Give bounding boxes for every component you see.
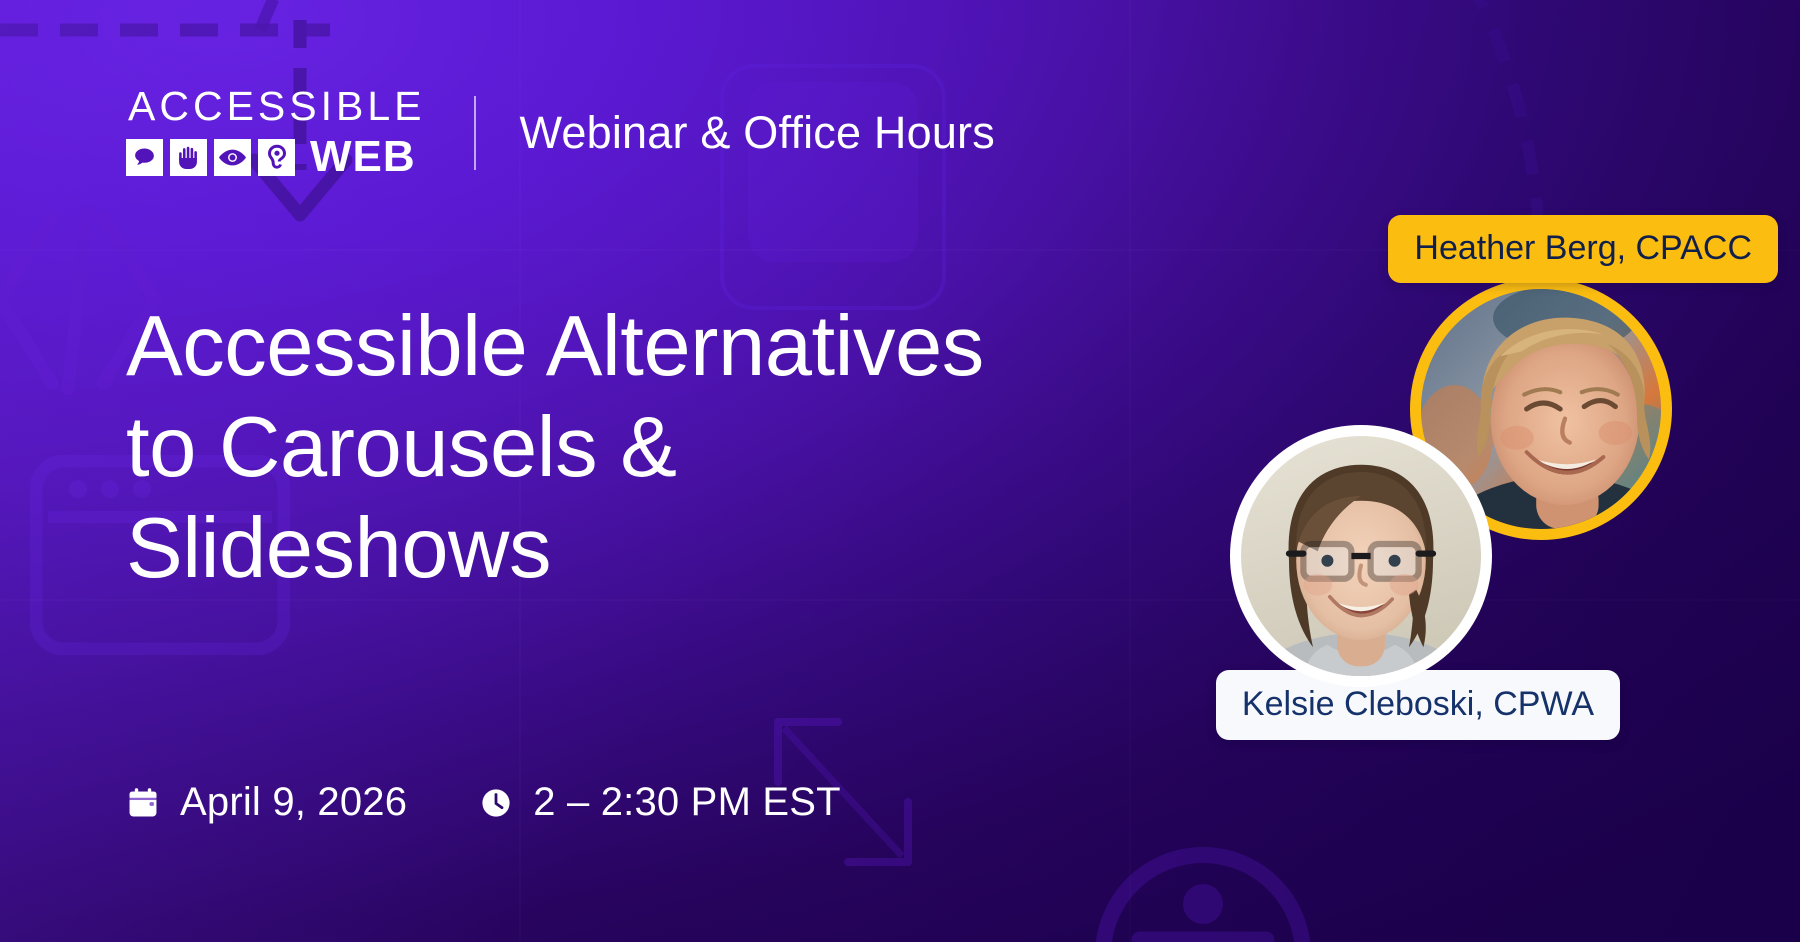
speaker-group: Heather Berg, CPACC (1150, 0, 1800, 800)
event-time: 2 – 2:30 PM EST (479, 780, 841, 825)
event-date: April 9, 2026 (126, 780, 407, 825)
speaker-name-badge-heather: Heather Berg, CPACC (1388, 215, 1778, 283)
title-line-2: to Carousels & (126, 400, 676, 495)
avatar-kelsie-cleboski (1230, 425, 1492, 687)
calendar-icon (126, 786, 160, 820)
event-meta: April 9, 2026 2 – 2:30 PM EST (126, 780, 841, 825)
page-title: Accessible Alternatives to Carousels & S… (126, 296, 1216, 599)
eye-icon (214, 139, 251, 176)
title-line-3: Slideshows (126, 501, 551, 596)
speaker-name-text: Heather Berg, CPACC (1414, 231, 1752, 265)
dashed-line-top-left-icon (0, 18, 330, 42)
accessible-web-logo[interactable]: ACCESSIBLE (126, 86, 426, 179)
banner-header: ACCESSIBLE (126, 86, 995, 179)
speaker-name-badge-kelsie: Kelsie Cleboski, CPWA (1216, 670, 1620, 740)
event-time-text: 2 – 2:30 PM EST (533, 780, 841, 825)
hand-icon (170, 139, 207, 176)
logo-icon-set (126, 139, 295, 176)
event-date-text: April 9, 2026 (180, 780, 407, 825)
logo-word-web: WEB (310, 135, 416, 179)
webinar-series-title: Webinar & Office Hours (520, 107, 995, 159)
ear-icon (258, 139, 295, 176)
speaker-name-text: Kelsie Cleboski, CPWA (1242, 687, 1594, 721)
logo-word-accessible: ACCESSIBLE (126, 86, 426, 127)
avatar-photo (1241, 436, 1481, 676)
speech-bubble-icon (126, 139, 163, 176)
title-line-1: Accessible Alternatives (126, 299, 984, 394)
header-divider (474, 96, 476, 170)
accessibility-person-icon (1088, 840, 1318, 942)
clock-icon (479, 786, 513, 820)
promo-banner: ACCESSIBLE (0, 0, 1800, 942)
